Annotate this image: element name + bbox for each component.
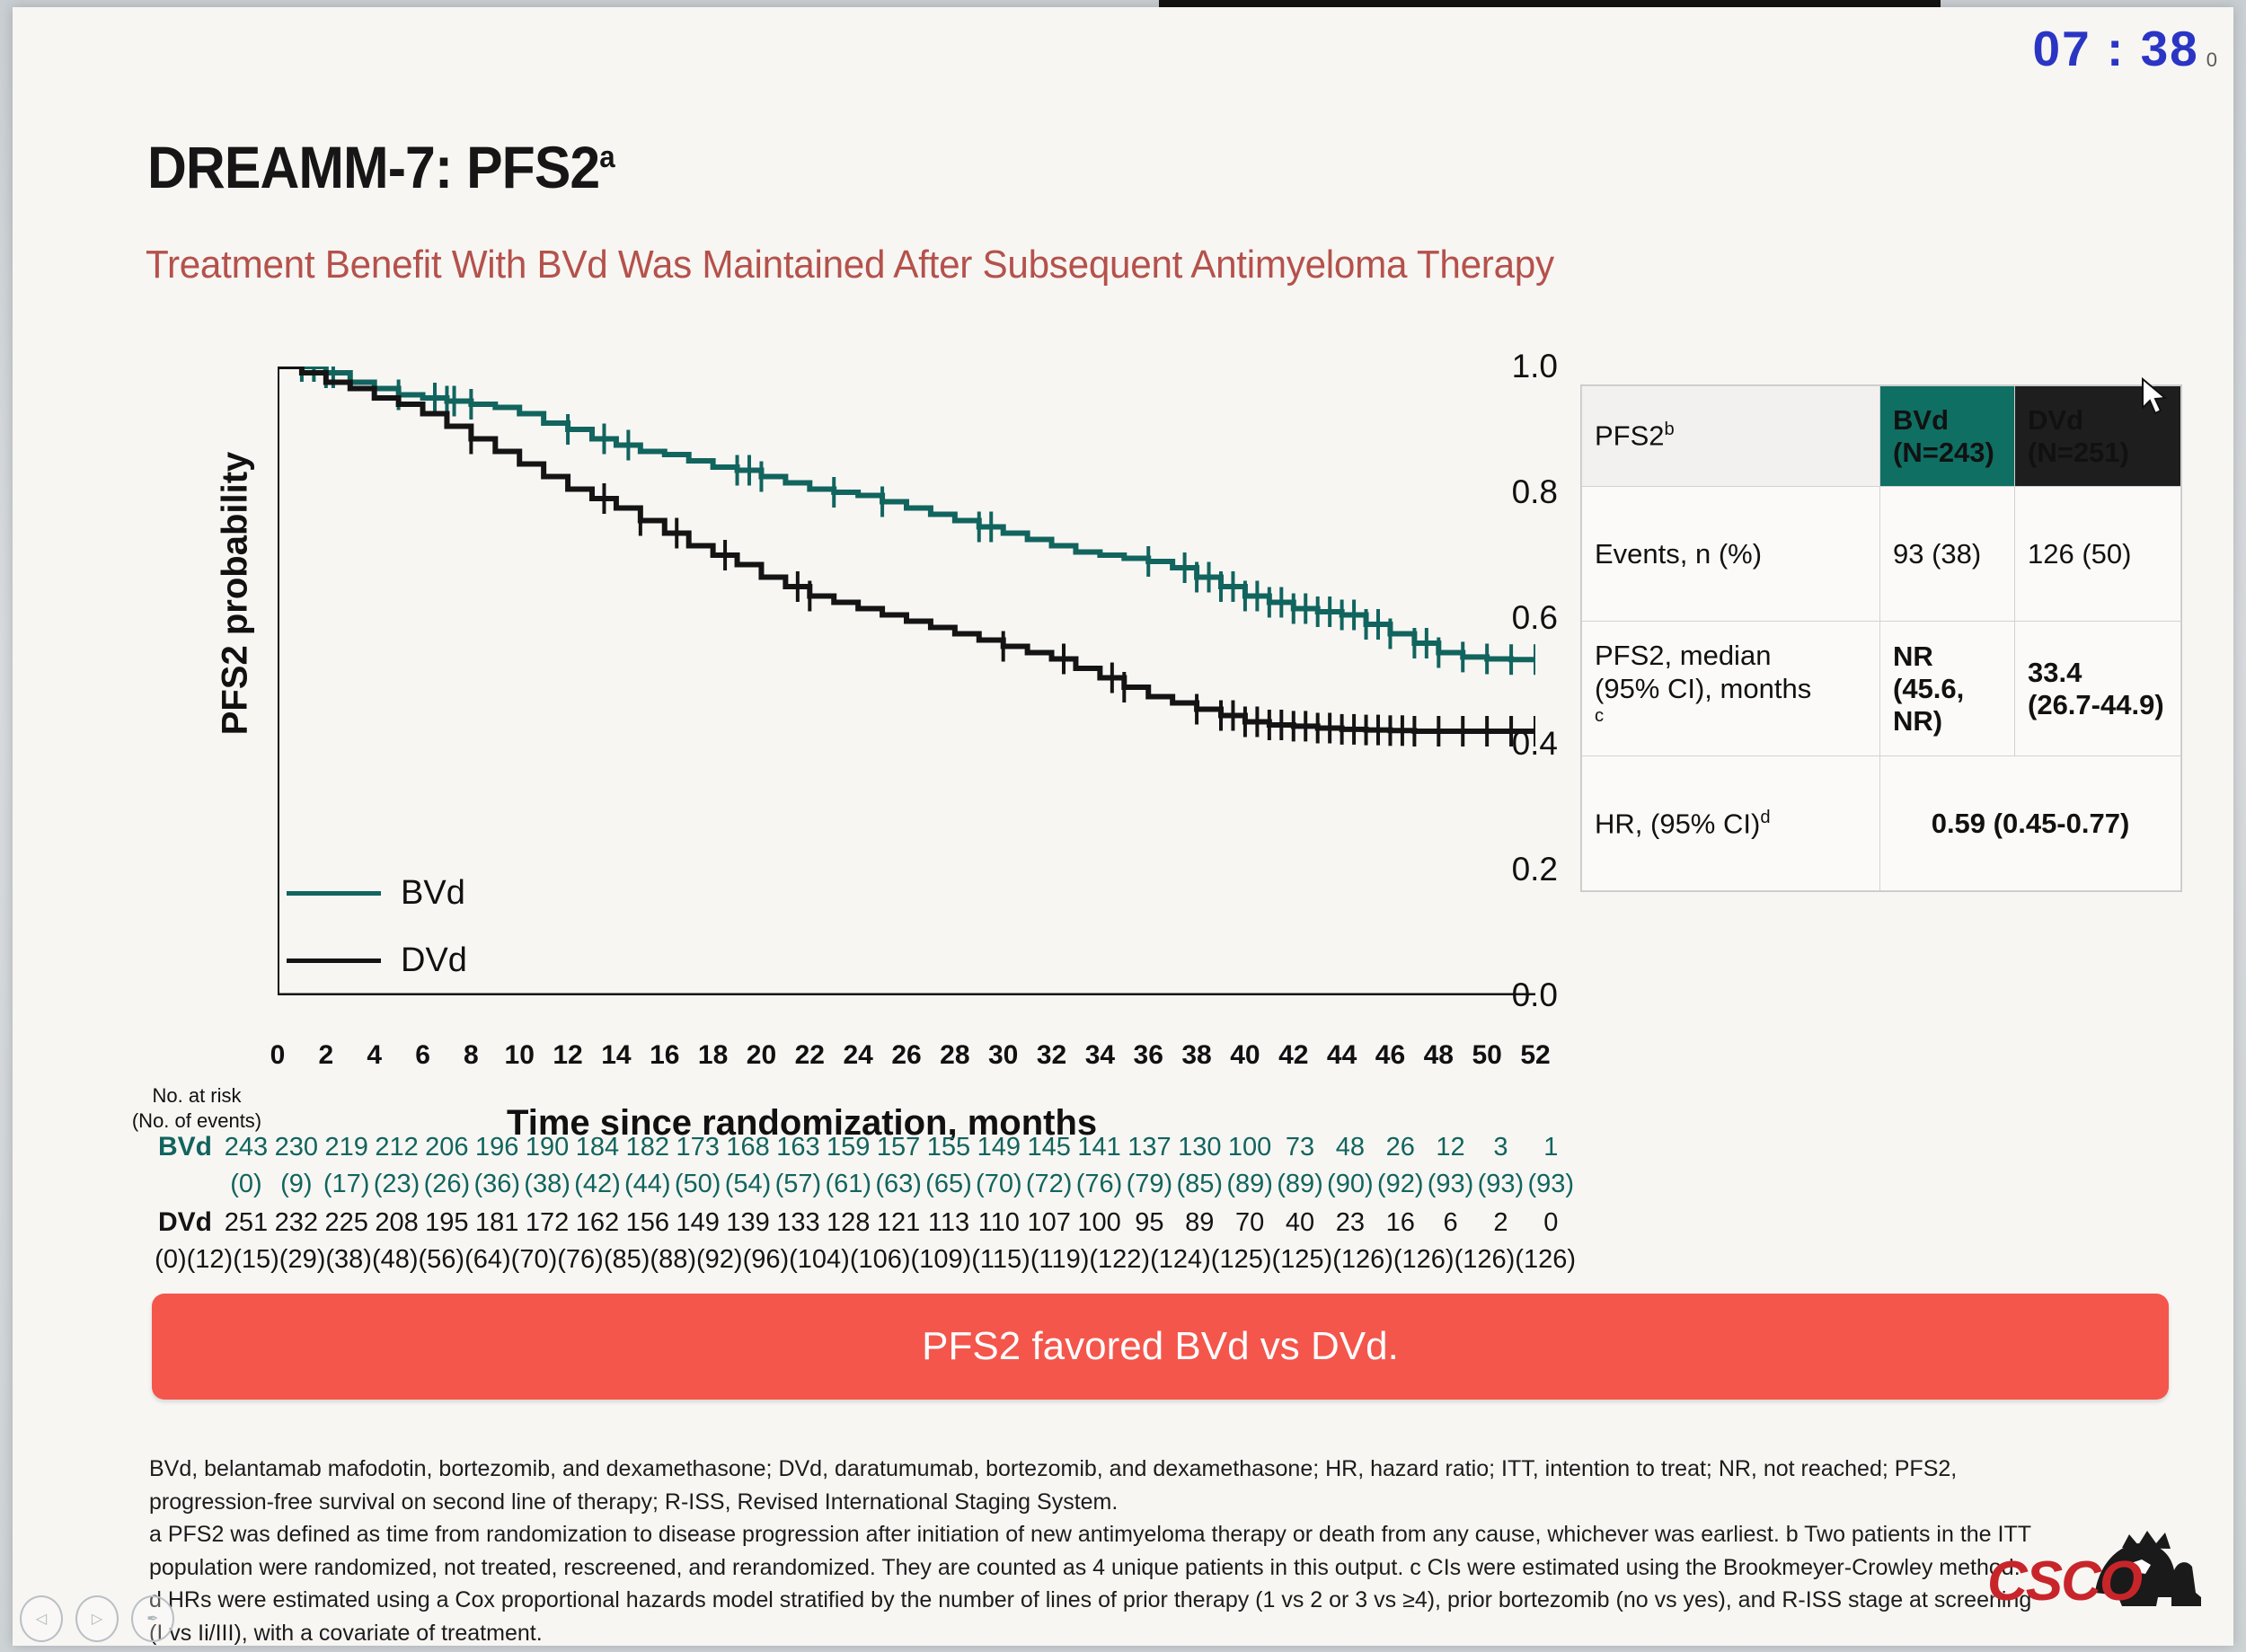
risk-cell: (96) [743, 1245, 790, 1275]
risk-cell: (92) [696, 1245, 743, 1275]
risk-cell: (0) [155, 1245, 186, 1275]
risk-cell: 70 [1225, 1208, 1275, 1238]
x-tick-label: 32 [1037, 1040, 1066, 1071]
presentation-slide: 07 : 38 0 DREAMM-7: PFS2a Treatment Bene… [13, 7, 2233, 1646]
legend-label: BVd [401, 874, 465, 913]
x-tick-label: 16 [650, 1040, 679, 1071]
risk-row-label: BVd [120, 1132, 221, 1162]
risk-cell: 130 [1174, 1133, 1225, 1162]
risk-cell: 225 [322, 1208, 372, 1238]
risk-cell: 95 [1124, 1208, 1174, 1238]
x-tick-label: 52 [1520, 1040, 1550, 1071]
risk-cell: 208 [372, 1208, 422, 1238]
footnotes: BVd, belantamab mafodotin, bortezomib, a… [149, 1453, 2108, 1650]
x-tick-label: 36 [1134, 1040, 1163, 1071]
x-tick-label: 42 [1278, 1040, 1308, 1071]
x-tick-label: 14 [601, 1040, 631, 1071]
risk-cell: 121 [873, 1208, 924, 1238]
x-tick-label: 20 [747, 1040, 776, 1071]
risk-cell: (54) [723, 1170, 774, 1199]
csco-logo: CSCO [1987, 1507, 2212, 1633]
risk-cell: (26) [421, 1170, 472, 1199]
risk-cell: 26 [1375, 1133, 1426, 1162]
risk-cell: 157 [873, 1133, 924, 1162]
risk-cell: 190 [522, 1133, 572, 1162]
risk-cell: (89) [1225, 1170, 1275, 1199]
annotate-pen-button[interactable]: ✒ [131, 1595, 174, 1642]
risk-cell: (38) [522, 1170, 572, 1199]
x-tick-label: 30 [988, 1040, 1018, 1071]
median-bvd-value: NR(45.6, NR) [1880, 622, 2015, 756]
numbers-at-risk-table: BVd2432302192122061961901841821731681631… [120, 1132, 1576, 1283]
risk-cell: 230 [271, 1133, 322, 1162]
x-tick-label: 6 [415, 1040, 430, 1071]
legend-line-bvd [287, 891, 381, 896]
risk-cell: (29) [279, 1245, 326, 1275]
risk-cell: (90) [1325, 1170, 1375, 1199]
risk-cell: 139 [723, 1208, 774, 1238]
risk-cell: (126) [1455, 1245, 1516, 1275]
risk-cell: (23) [372, 1170, 422, 1199]
risk-cell: 128 [823, 1208, 873, 1238]
risk-cell: 219 [322, 1133, 372, 1162]
risk-cell: (119) [1030, 1245, 1090, 1275]
risk-cell: (76) [557, 1245, 604, 1275]
risk-cell: (106) [850, 1245, 911, 1275]
conclusion-banner: PFS2 favored BVd vs DVd. [152, 1294, 2169, 1400]
x-tick-label: 50 [1472, 1040, 1501, 1071]
risk-cell: (56) [419, 1245, 465, 1275]
table-row-median: PFS2, median(95% CI), monthsc NR(45.6, N… [1582, 622, 2181, 756]
x-tick-label: 28 [940, 1040, 969, 1071]
footnote-line: a PFS2 was defined as time from randomiz… [149, 1519, 2108, 1551]
x-tick-label: 4 [367, 1040, 382, 1071]
risk-cell: 133 [773, 1208, 823, 1238]
footnote-line: BVd, belantamab mafodotin, bortezomib, a… [149, 1453, 2108, 1486]
risk-cell: 155 [924, 1133, 974, 1162]
risk-table-row: DVd2512322252081951811721621561491391331… [120, 1207, 1576, 1245]
x-tick-label: 44 [1327, 1040, 1357, 1071]
risk-cell: (50) [673, 1170, 723, 1199]
risk-cell: 196 [472, 1133, 522, 1162]
risk-cell: 1 [1525, 1133, 1576, 1162]
risk-cell: (48) [372, 1245, 419, 1275]
table-header-row: PFS2b BVd (N=243) DVd (N=251) [1582, 386, 2181, 487]
risk-cell: (15) [233, 1245, 279, 1275]
risk-cell: 162 [572, 1208, 623, 1238]
risk-cell: (126) [1515, 1245, 1576, 1275]
risk-cell: (9) [271, 1170, 322, 1199]
risk-cell: (0) [221, 1170, 271, 1199]
events-dvd-value: 126 (50) [2015, 487, 2181, 622]
x-tick-label: 18 [698, 1040, 728, 1071]
photo-background: 07 : 38 0 DREAMM-7: PFS2a Treatment Bene… [0, 0, 2246, 1652]
x-tick-label: 0 [270, 1040, 286, 1071]
next-slide-button[interactable]: ▷ [75, 1595, 119, 1642]
hr-value: 0.59 (0.45-0.77) [1880, 756, 2181, 891]
risk-cell: 0 [1525, 1208, 1576, 1238]
risk-cell: 195 [421, 1208, 472, 1238]
risk-cell: (93) [1475, 1170, 1525, 1199]
risk-cell: (42) [572, 1170, 623, 1199]
header-dvd-n: (N=251) [2028, 437, 2168, 469]
risk-cell: (36) [472, 1170, 522, 1199]
risk-cell: 156 [623, 1208, 673, 1238]
x-tick-label: 8 [464, 1040, 479, 1071]
risk-table-caption: No. at risk (No. of events) [120, 1083, 273, 1133]
footnote-line: population were randomized, not treated,… [149, 1552, 2108, 1585]
legend-item-bvd: BVd [287, 874, 467, 913]
table-row-events: Events, n (%) 93 (38) 126 (50) [1582, 487, 2181, 622]
risk-cell: (89) [1275, 1170, 1325, 1199]
risk-cell: 181 [472, 1208, 522, 1238]
risk-cell: 3 [1475, 1133, 1525, 1162]
risk-cell: (61) [823, 1170, 873, 1199]
row-label-hr: HR, (95% CI)d [1582, 756, 1880, 891]
x-tick-label: 12 [553, 1040, 582, 1071]
session-timer: 07 : 38 0 [2033, 20, 2217, 77]
page-subtitle: Treatment Benefit With BVd Was Maintaine… [146, 243, 1554, 287]
header-bvd-cell: BVd (N=243) [1880, 386, 2015, 487]
risk-cell: (126) [1332, 1245, 1393, 1275]
x-tick-label: 48 [1424, 1040, 1454, 1071]
x-tick-label: 24 [843, 1040, 872, 1071]
risk-cell: 173 [673, 1133, 723, 1162]
risk-cell: 12 [1426, 1133, 1476, 1162]
slide-navigation-bar[interactable]: ◁▷✒ [20, 1595, 174, 1642]
header-bvd-name: BVd [1893, 404, 2002, 437]
risk-table-row: (0)(12)(15)(29)(38)(48)(56)(64)(70)(76)(… [120, 1245, 1576, 1283]
footnote-line: progression-free survival on second line… [149, 1487, 2108, 1519]
risk-cell: (17) [322, 1170, 372, 1199]
risk-cell: 159 [823, 1133, 873, 1162]
risk-cell: (79) [1124, 1170, 1174, 1199]
risk-caption-line2: (No. of events) [120, 1109, 273, 1134]
x-tick-label: 38 [1181, 1040, 1211, 1071]
row-label-median: PFS2, median(95% CI), monthsc [1582, 622, 1880, 756]
risk-cell: (44) [623, 1170, 673, 1199]
risk-cell: 182 [623, 1133, 673, 1162]
risk-cell: 100 [1225, 1133, 1275, 1162]
risk-cell: 149 [974, 1133, 1024, 1162]
timer-value: 07 : 38 [2033, 20, 2199, 77]
table-row-hr: HR, (95% CI)d 0.59 (0.45-0.77) [1582, 756, 2181, 891]
x-tick-label: 26 [891, 1040, 921, 1071]
risk-cell: (85) [604, 1245, 650, 1275]
risk-cell: 16 [1375, 1208, 1426, 1238]
risk-cell: (93) [1426, 1170, 1476, 1199]
risk-cell: (125) [1271, 1245, 1332, 1275]
risk-cell: (85) [1174, 1170, 1225, 1199]
page-title-text: DREAMM-7: PFS2 [147, 134, 599, 200]
risk-cell: (63) [873, 1170, 924, 1199]
header-metric-cell: PFS2b [1582, 386, 1880, 487]
risk-cell: (126) [1393, 1245, 1455, 1275]
risk-cell: 172 [522, 1208, 572, 1238]
risk-cell: 48 [1325, 1133, 1375, 1162]
risk-cell: (64) [464, 1245, 511, 1275]
footnote-line: d HRs were estimated using a Cox proport… [149, 1585, 2108, 1617]
risk-cell: (124) [1150, 1245, 1211, 1275]
risk-cell: (109) [911, 1245, 972, 1275]
risk-cell: 184 [572, 1133, 623, 1162]
risk-cell: (72) [1024, 1170, 1074, 1199]
risk-cell: (70) [974, 1170, 1024, 1199]
risk-cell: 2 [1475, 1208, 1525, 1238]
csco-wordmark: CSCO [1987, 1550, 2141, 1613]
events-bvd-value: 93 (38) [1880, 487, 2015, 622]
x-tick-label: 10 [505, 1040, 535, 1071]
risk-cell: (125) [1211, 1245, 1272, 1275]
risk-cell: 137 [1124, 1133, 1174, 1162]
risk-cell: 73 [1275, 1133, 1325, 1162]
risk-cell: (104) [789, 1245, 850, 1275]
risk-cell: (38) [325, 1245, 372, 1275]
risk-cell: 113 [924, 1208, 974, 1238]
x-tick-label: 22 [795, 1040, 825, 1071]
kaplan-meier-chart: PFS2 probability 0.00.20.40.60.81.0 0246… [120, 349, 1558, 1049]
risk-table-row: (0)(9)(17)(23)(26)(36)(38)(42)(44)(50)(5… [120, 1170, 1576, 1207]
timer-suffix: 0 [2206, 49, 2217, 77]
x-tick-label: 34 [1085, 1040, 1115, 1071]
risk-cell: (70) [511, 1245, 558, 1275]
legend-item-dvd: DVd [287, 941, 467, 980]
risk-cell: 206 [421, 1133, 472, 1162]
risk-cell: (92) [1375, 1170, 1426, 1199]
chart-legend: BVdDVd [287, 874, 467, 1009]
risk-cell: (93) [1525, 1170, 1576, 1199]
risk-cell: (122) [1089, 1245, 1150, 1275]
risk-cell: 251 [221, 1208, 271, 1238]
x-tick-label: 2 [319, 1040, 334, 1071]
risk-cell: (12) [187, 1245, 234, 1275]
page-title-superscript: a [599, 140, 614, 174]
legend-label: DVd [401, 941, 467, 980]
risk-cell: 141 [1074, 1133, 1125, 1162]
legend-line-dvd [287, 959, 381, 963]
footnote-line: (I vs Ii/III), with a covariate of treat… [149, 1618, 2108, 1650]
median-dvd-value: 33.4(26.7-44.9) [2015, 622, 2181, 756]
mouse-cursor [2140, 377, 2171, 419]
risk-cell: 40 [1275, 1208, 1325, 1238]
risk-table-row: BVd2432302192122061961901841821731681631… [120, 1132, 1576, 1170]
risk-cell: 6 [1426, 1208, 1476, 1238]
risk-cell: 100 [1074, 1208, 1125, 1238]
risk-cell: (115) [971, 1245, 1030, 1275]
risk-cell: (57) [773, 1170, 823, 1199]
results-summary-table: PFS2b BVd (N=243) DVd (N=251) Events, n … [1580, 384, 2182, 892]
risk-cell: (76) [1074, 1170, 1125, 1199]
risk-cell: 89 [1174, 1208, 1225, 1238]
risk-caption-line1: No. at risk [120, 1083, 273, 1109]
y-axis-label: PFS2 probability [215, 452, 255, 736]
risk-row-label: DVd [120, 1207, 221, 1238]
risk-cell: (88) [650, 1245, 696, 1275]
previous-slide-button[interactable]: ◁ [20, 1595, 63, 1642]
risk-cell: 145 [1024, 1133, 1074, 1162]
header-bvd-n: (N=243) [1893, 437, 2002, 469]
risk-cell: 23 [1325, 1208, 1375, 1238]
risk-cell: 232 [271, 1208, 322, 1238]
risk-cell: 163 [773, 1133, 823, 1162]
page-title: DREAMM-7: PFS2a [147, 133, 615, 201]
risk-cell: 149 [673, 1208, 723, 1238]
risk-cell: 107 [1024, 1208, 1074, 1238]
risk-cell: 110 [974, 1208, 1024, 1238]
x-tick-label: 40 [1230, 1040, 1260, 1071]
risk-cell: 212 [372, 1133, 422, 1162]
row-label-events: Events, n (%) [1582, 487, 1880, 622]
risk-cell: 168 [723, 1133, 774, 1162]
x-tick-label: 46 [1375, 1040, 1405, 1071]
risk-cell: (65) [924, 1170, 974, 1199]
risk-cell: 243 [221, 1133, 271, 1162]
